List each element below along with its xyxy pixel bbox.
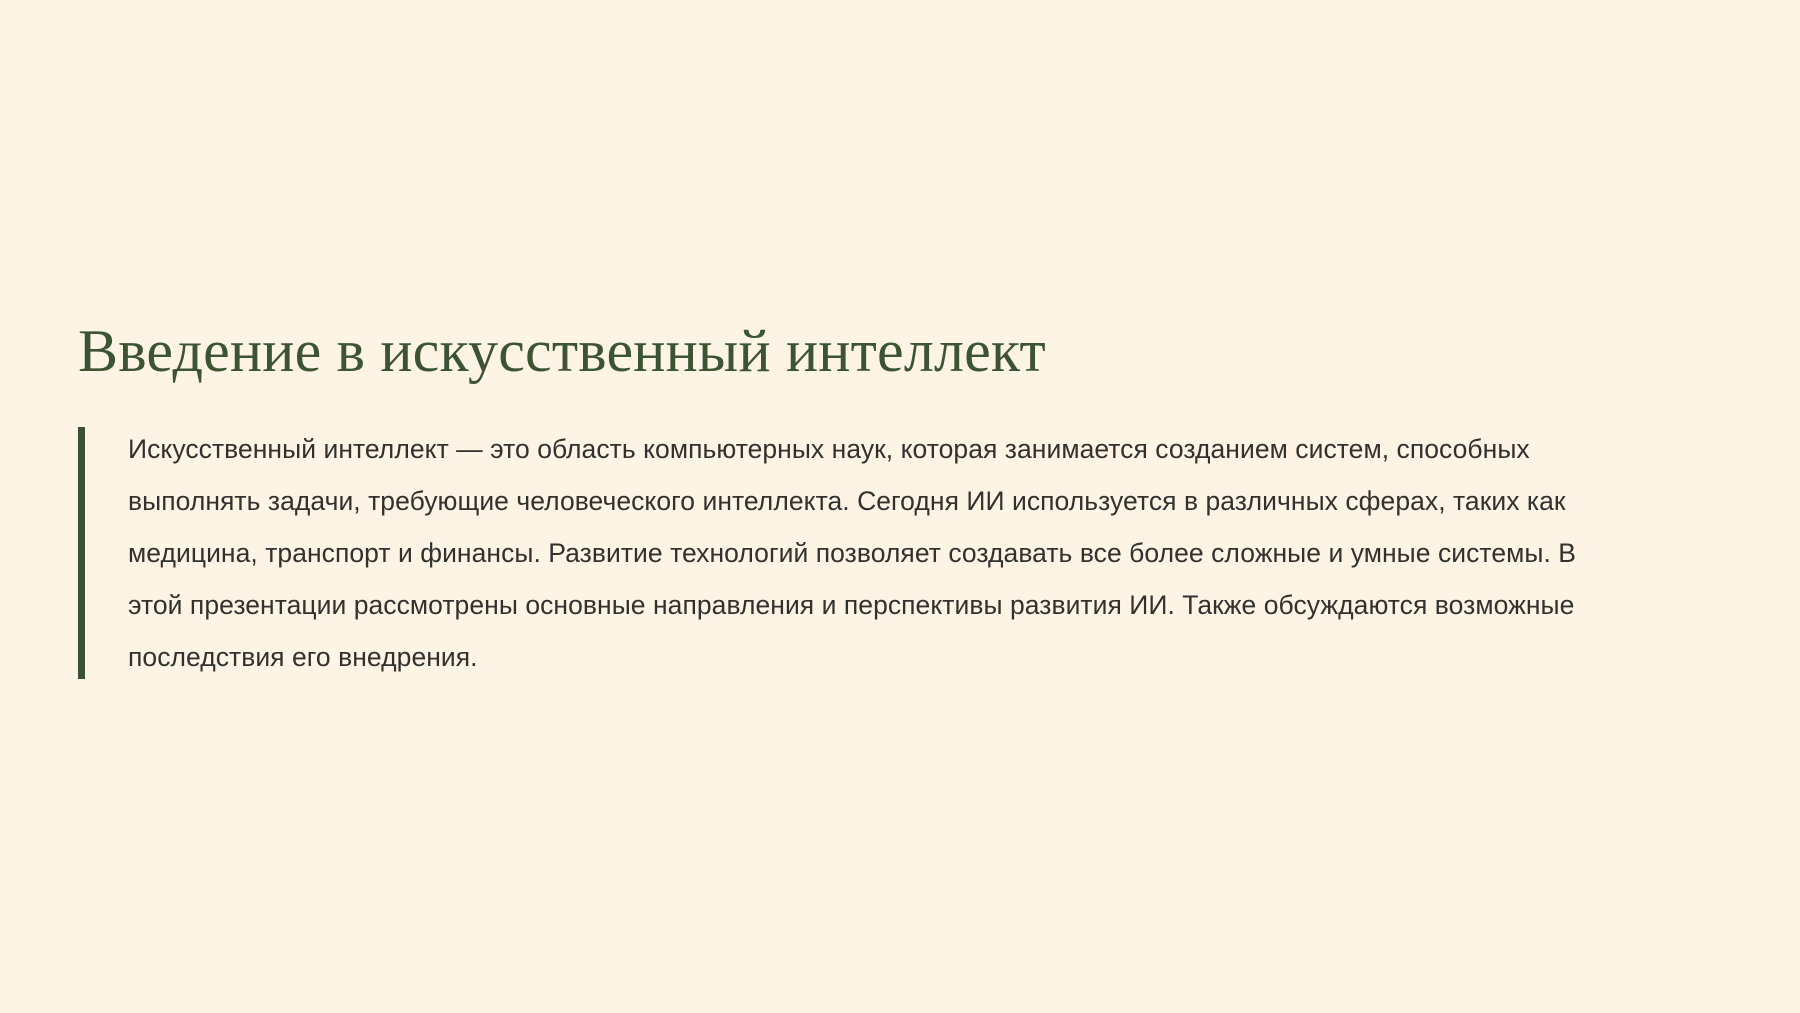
presentation-slide: Введение в искусственный интеллект Искус… (0, 0, 1800, 1013)
accent-bar (78, 427, 85, 679)
page-title: Введение в искусственный интеллект (78, 318, 1738, 385)
slide-content: Введение в искусственный интеллект Искус… (78, 318, 1738, 683)
body-quote-block: Искусственный интеллект — это область ко… (78, 423, 1738, 683)
body-paragraph: Искусственный интеллект — это область ко… (128, 423, 1588, 683)
